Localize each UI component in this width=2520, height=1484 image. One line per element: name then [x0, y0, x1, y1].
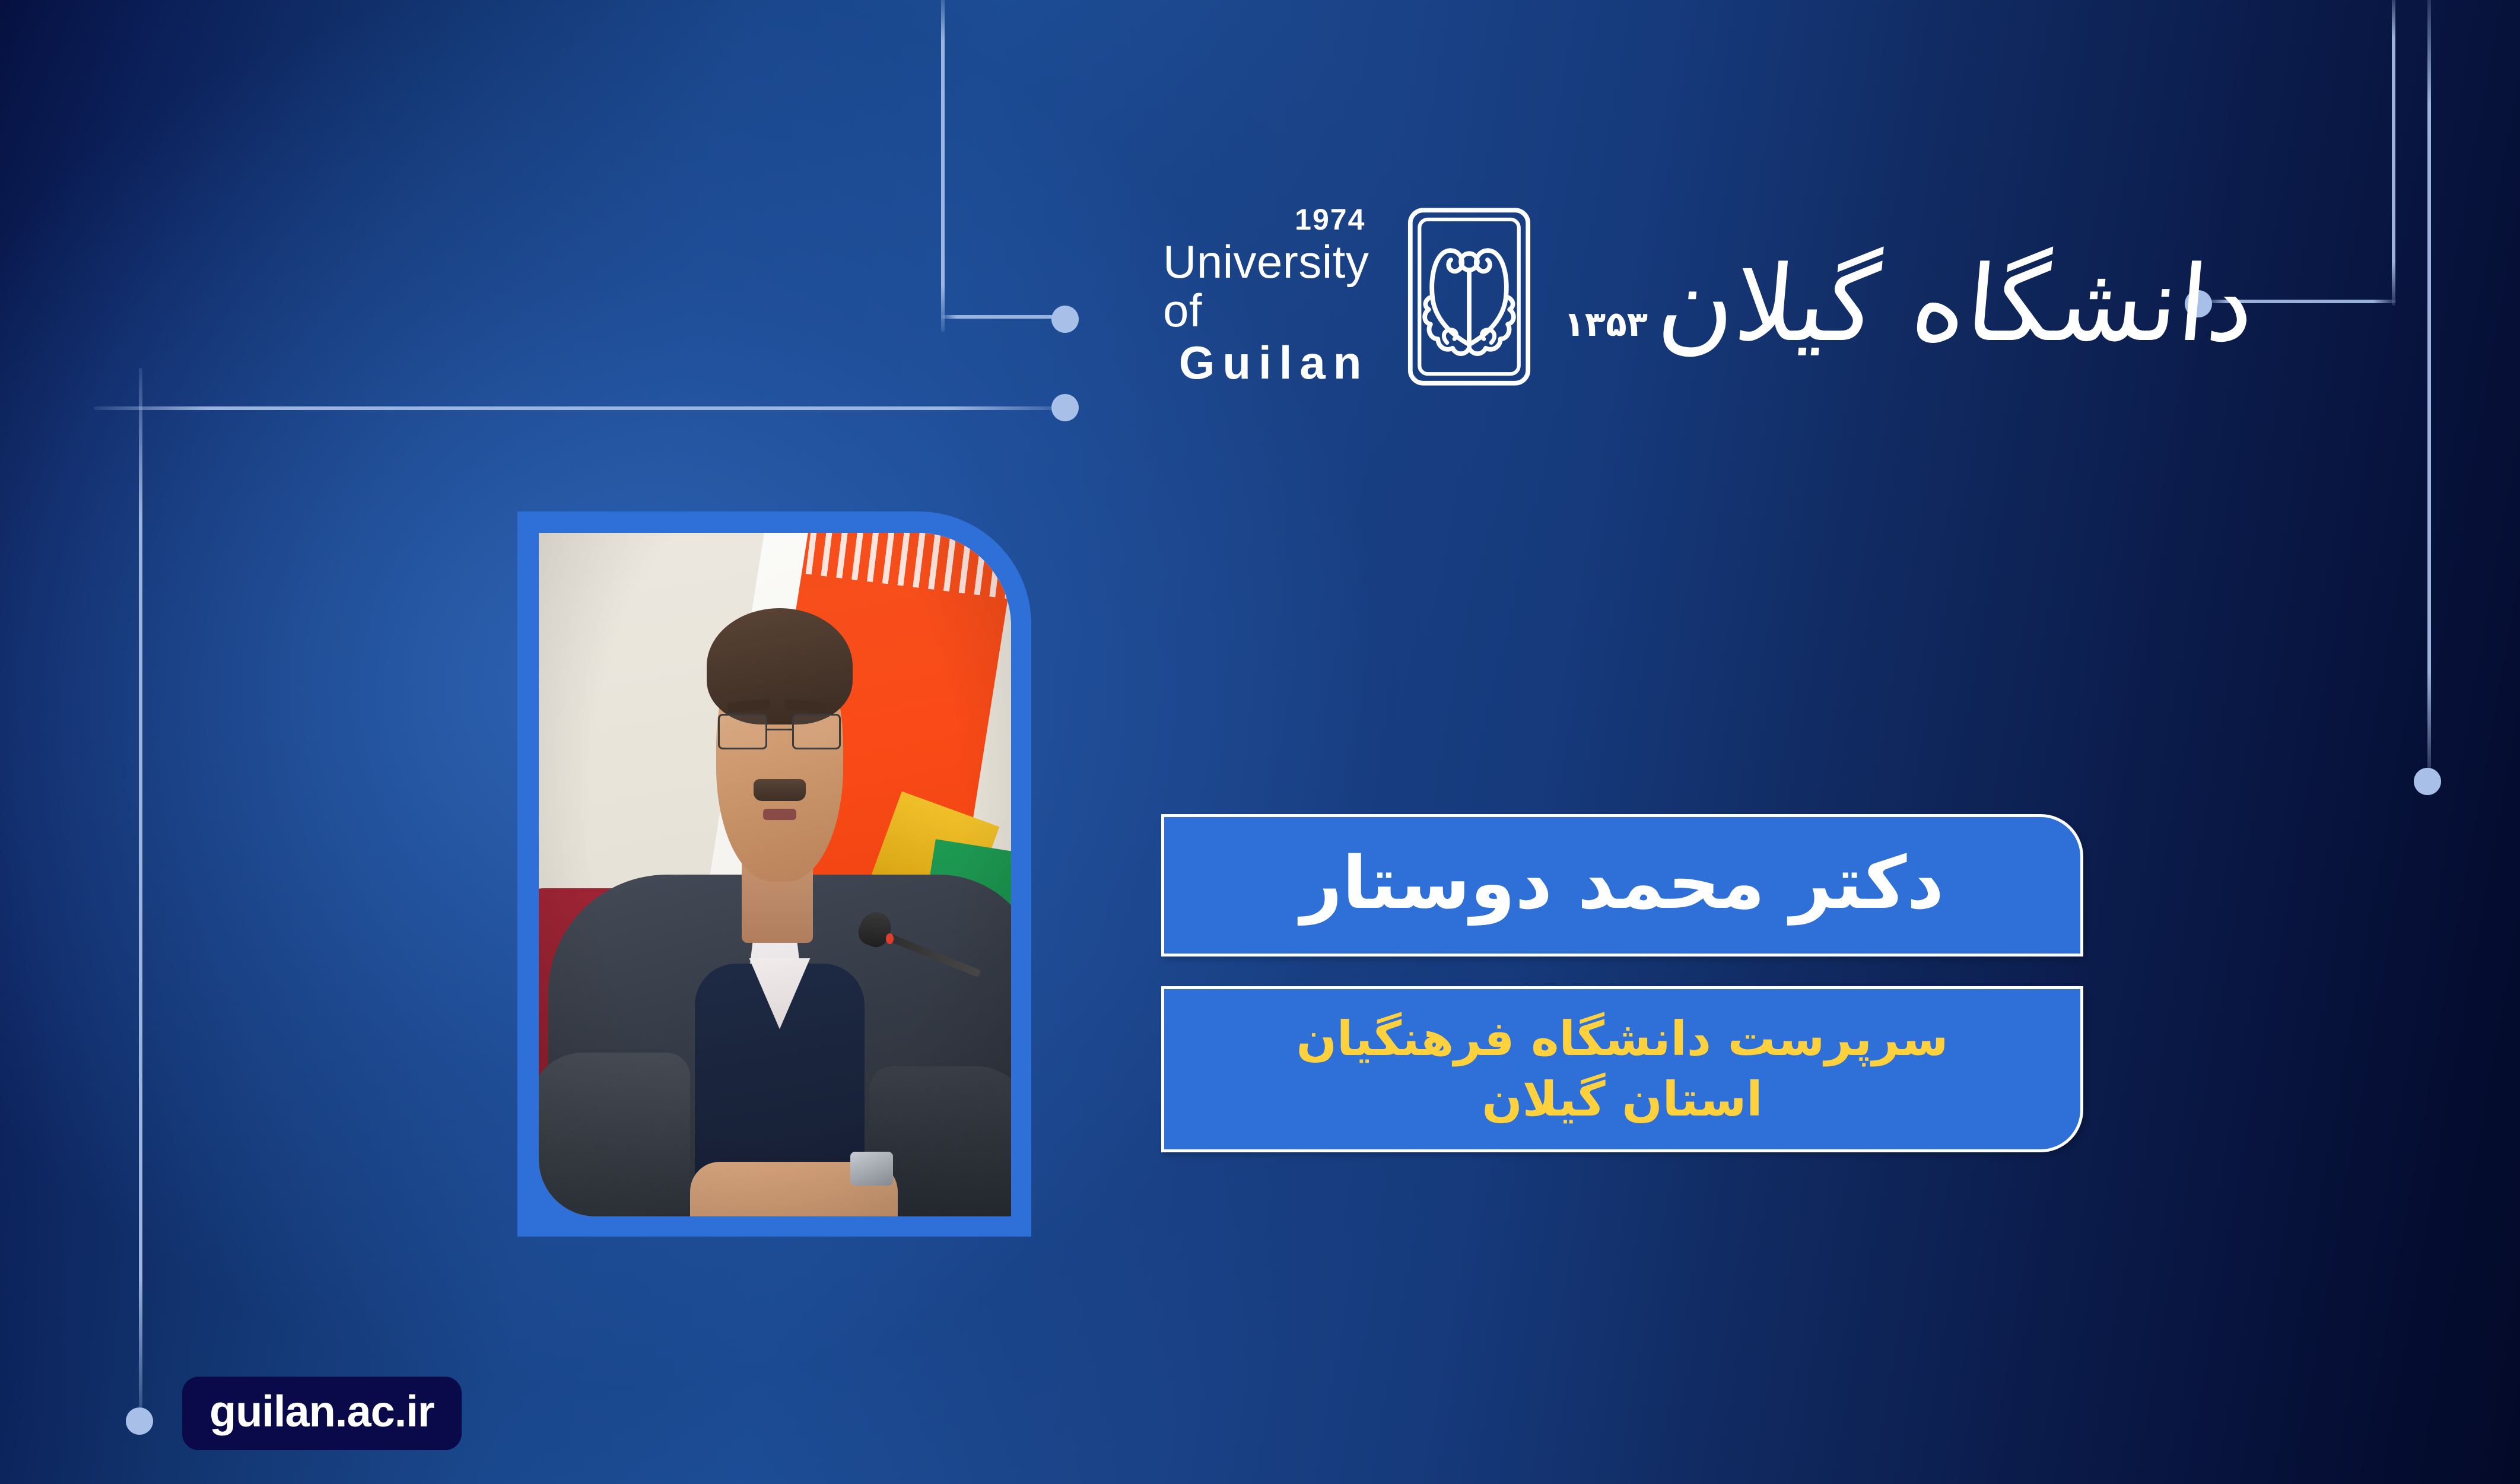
logo-english-line2: Guilan	[1179, 338, 1369, 389]
photo-vignette	[539, 533, 1011, 1216]
decorative-vertical-line-top-right	[2392, 0, 2395, 306]
decorative-vertical-line-right	[2427, 0, 2431, 781]
logo-persian-block: ۱۳۵۳ دانشگاه گیلان	[1564, 237, 2254, 357]
person-title-line2: استان گیلان	[1482, 1069, 1762, 1130]
portrait-photo	[539, 533, 1011, 1216]
decorative-dot-top-left	[1051, 306, 1079, 333]
person-name-badge: دکتر محمد دوستار	[1161, 814, 2083, 957]
decorative-horizontal-line-top-left	[941, 315, 1069, 319]
guilan-university-butterfly-emblem-icon	[1377, 205, 1561, 389]
decorative-vertical-line-left	[139, 368, 142, 1425]
logo-year-gregorian: 1974	[1295, 205, 1365, 234]
portrait-frame	[517, 511, 1031, 1237]
decorative-horizontal-line-left	[94, 406, 1068, 410]
website-url-badge[interactable]: guilan.ac.ir	[182, 1377, 462, 1450]
decorative-vertical-line-top-left	[941, 0, 945, 332]
decorative-dot-right-end	[2414, 768, 2441, 795]
university-logo: 1974 University of Guilan ۱۳۵۳ دانشگاه گ…	[1163, 196, 2112, 398]
decorative-dot-left-end	[1051, 394, 1079, 421]
decorative-dot-bottom-left	[126, 1407, 153, 1435]
person-title-line1: سرپرست دانشگاه فرهنگیان	[1296, 1009, 1949, 1069]
logo-english-block: 1974 University of Guilan	[1163, 205, 1369, 389]
website-url-text: guilan.ac.ir	[209, 1390, 434, 1434]
person-name-text: دکتر محمد دوستار	[1301, 847, 1944, 924]
banner-stage: 1974 University of Guilan ۱۳۵۳ دانشگاه گ…	[0, 0, 2520, 1484]
person-title-badge: سرپرست دانشگاه فرهنگیان استان گیلان	[1161, 986, 2083, 1152]
logo-english-line1: University of	[1163, 238, 1369, 335]
logo-persian-name: دانشگاه گیلان	[1654, 252, 2258, 357]
logo-year-persian: ۱۳۵۳	[1564, 307, 1648, 341]
